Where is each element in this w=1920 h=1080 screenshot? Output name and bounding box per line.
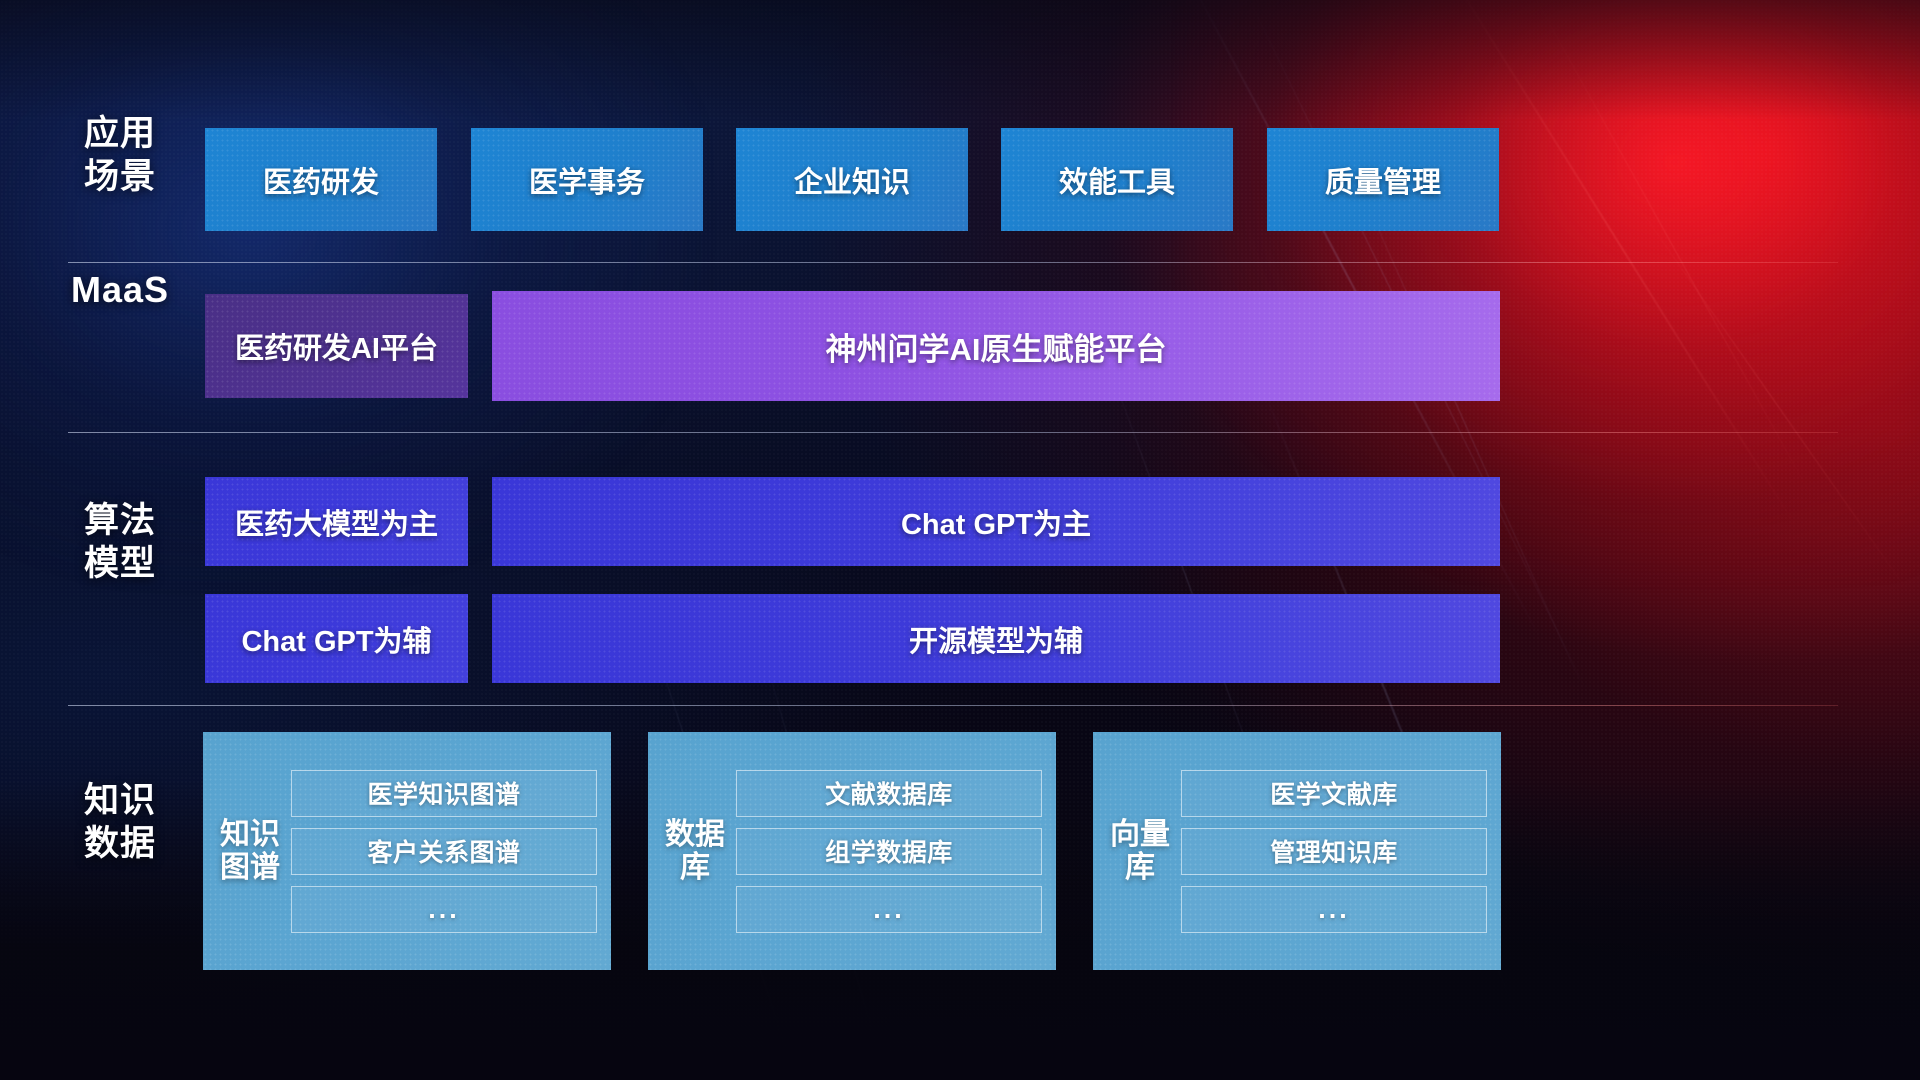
knowledge-item[interactable]: 管理知识库: [1181, 828, 1487, 875]
app-card-medical-affairs[interactable]: 医学事务: [471, 128, 703, 231]
app-card-label: 效能工具: [1059, 159, 1175, 201]
knowledge-group-title: 向量库: [1109, 818, 1171, 884]
knowledge-item[interactable]: 文献数据库: [736, 770, 1042, 817]
algo-card-label: Chat GPT为主: [901, 501, 1091, 543]
app-card-quality-management[interactable]: 质量管理: [1267, 128, 1499, 231]
knowledge-group-knowledge-graph[interactable]: 知识图谱 医学知识图谱 客户关系图谱 ...: [203, 732, 611, 970]
divider-1: [68, 262, 1838, 263]
app-card-enterprise-knowledge[interactable]: 企业知识: [736, 128, 968, 231]
app-card-label: 医学事务: [529, 159, 645, 201]
divider-3: [68, 705, 1838, 706]
knowledge-item[interactable]: 客户关系图谱: [291, 828, 597, 875]
app-card-label: 医药研发: [263, 159, 379, 201]
app-card-efficiency-tools[interactable]: 效能工具: [1001, 128, 1233, 231]
knowledge-group-vector-store[interactable]: 向量库 医学文献库 管理知识库 ...: [1093, 732, 1501, 970]
knowledge-group-database[interactable]: 数据库 文献数据库 组学数据库 ...: [648, 732, 1056, 970]
maas-card-label: 神州问学AI原生赋能平台: [826, 324, 1167, 369]
divider-2: [68, 432, 1838, 433]
knowledge-item[interactable]: 组学数据库: [736, 828, 1042, 875]
algo-card-pharma-llm-primary[interactable]: 医药大模型为主: [205, 477, 468, 566]
algo-card-label: 开源模型为辅: [909, 618, 1083, 660]
maas-card-pharma-ai-platform[interactable]: 医药研发AI平台: [205, 294, 468, 398]
knowledge-item[interactable]: 医学文献库: [1181, 770, 1487, 817]
knowledge-group-title: 数据库: [664, 818, 726, 884]
knowledge-item[interactable]: 医学知识图谱: [291, 770, 597, 817]
app-card-label: 企业知识: [794, 159, 910, 201]
knowledge-item-more[interactable]: ...: [736, 886, 1042, 933]
knowledge-group-title: 知识图谱: [219, 818, 281, 884]
app-card-medical-rd[interactable]: 医药研发: [205, 128, 437, 231]
maas-card-label: 医药研发AI平台: [235, 325, 438, 367]
knowledge-item-more[interactable]: ...: [291, 886, 597, 933]
knowledge-item-more[interactable]: ...: [1181, 886, 1487, 933]
algo-card-chatgpt-secondary[interactable]: Chat GPT为辅: [205, 594, 468, 683]
algo-card-chatgpt-primary[interactable]: Chat GPT为主: [492, 477, 1500, 566]
diagram-canvas: 应用 场景 MaaS 算法 模型 知识 数据 医药研发 医学事务 企业知识 效能…: [0, 0, 1920, 1080]
app-card-label: 质量管理: [1325, 159, 1441, 201]
algo-card-opensource-secondary[interactable]: 开源模型为辅: [492, 594, 1500, 683]
algo-card-label: 医药大模型为主: [235, 501, 438, 543]
row-label-application-scenarios: 应用 场景: [55, 113, 185, 198]
row-label-algorithm-models: 算法 模型: [55, 500, 185, 585]
maas-card-shenzhou-platform[interactable]: 神州问学AI原生赋能平台: [492, 291, 1500, 401]
algo-card-label: Chat GPT为辅: [241, 618, 431, 660]
row-label-knowledge-data: 知识 数据: [55, 780, 185, 865]
row-label-maas: MaaS: [40, 268, 200, 312]
